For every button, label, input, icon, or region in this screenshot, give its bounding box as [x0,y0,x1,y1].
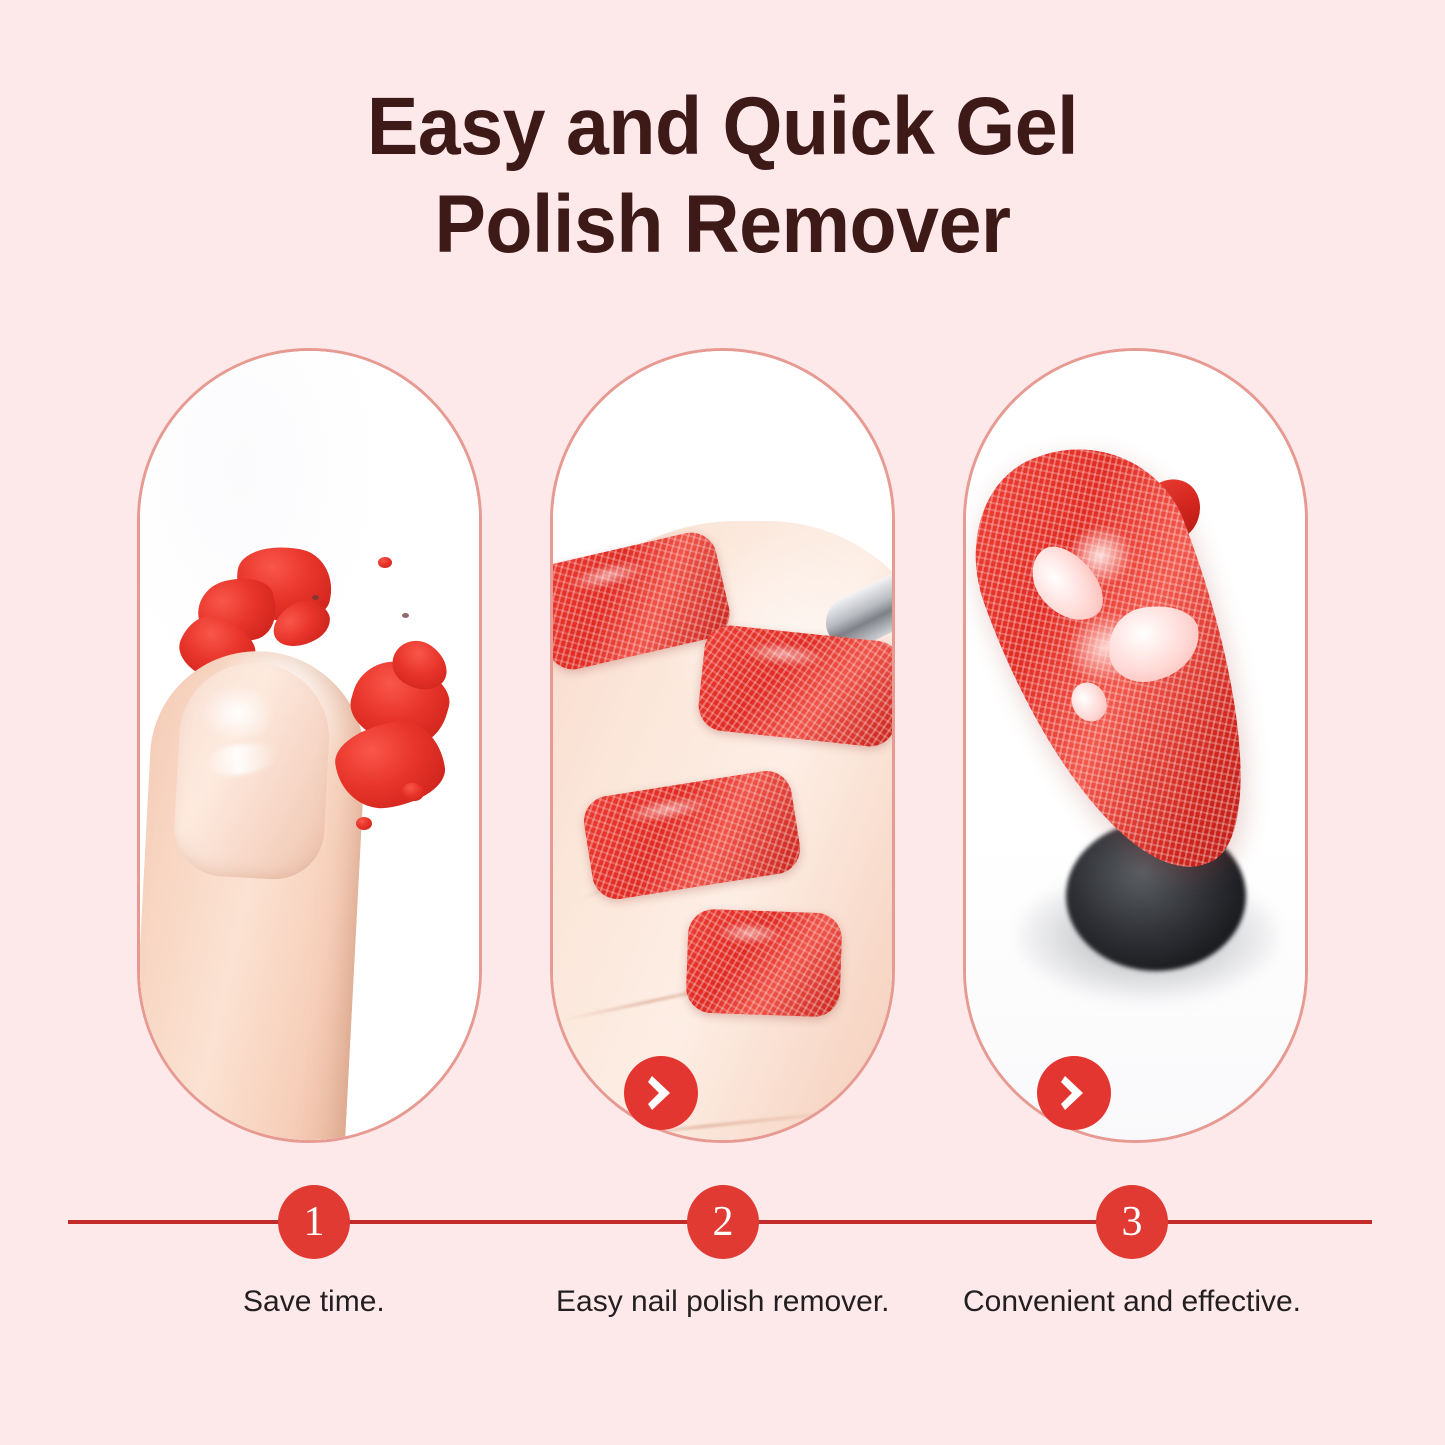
step-caption-3: Convenient and effective. [963,1283,1301,1321]
page-title-line-2: Polish Remover [43,176,1401,274]
step-panel-3 [963,348,1308,1143]
chevron-right-icon [1059,1073,1089,1113]
arrow-step-2-to-3 [1037,1056,1111,1130]
gel-coated-nail [696,623,892,749]
gel-coated-nail [685,908,843,1017]
gel-flake [378,557,392,568]
debris-speck [312,595,319,600]
photo-peeled-gel-on-bottle [966,351,1305,1140]
step-panel-1 [137,348,482,1143]
gel-flake [356,817,372,830]
page-title-line-1: Easy and Quick Gel [43,78,1401,176]
chevron-right-icon [646,1073,676,1113]
step-image-panels [137,348,1308,1143]
arrow-step-1-to-2 [624,1056,698,1130]
step-caption-2: Easy nail polish remover. [556,1283,890,1321]
fingertip [140,646,370,1140]
step-badge-2: 2 [687,1185,759,1259]
peel-hole [1019,534,1115,635]
peel-hole [1102,599,1205,688]
photo-gel-flakes-on-fingertip [140,351,479,1140]
steps-timeline: 1 2 3 Save time. Easy nail polish remove… [0,1185,1445,1385]
bare-nail [172,659,333,882]
page-title: Easy and Quick Gel Polish Remover [0,78,1445,274]
step-badge-1: 1 [278,1185,350,1259]
step-caption-1: Save time. [243,1283,385,1321]
step-panel-2 [550,348,895,1143]
step-badge-3: 3 [1096,1185,1168,1259]
debris-speck [402,613,409,618]
photo-hand-with-red-gel-nails [553,351,892,1140]
peel-hole [1065,677,1113,728]
